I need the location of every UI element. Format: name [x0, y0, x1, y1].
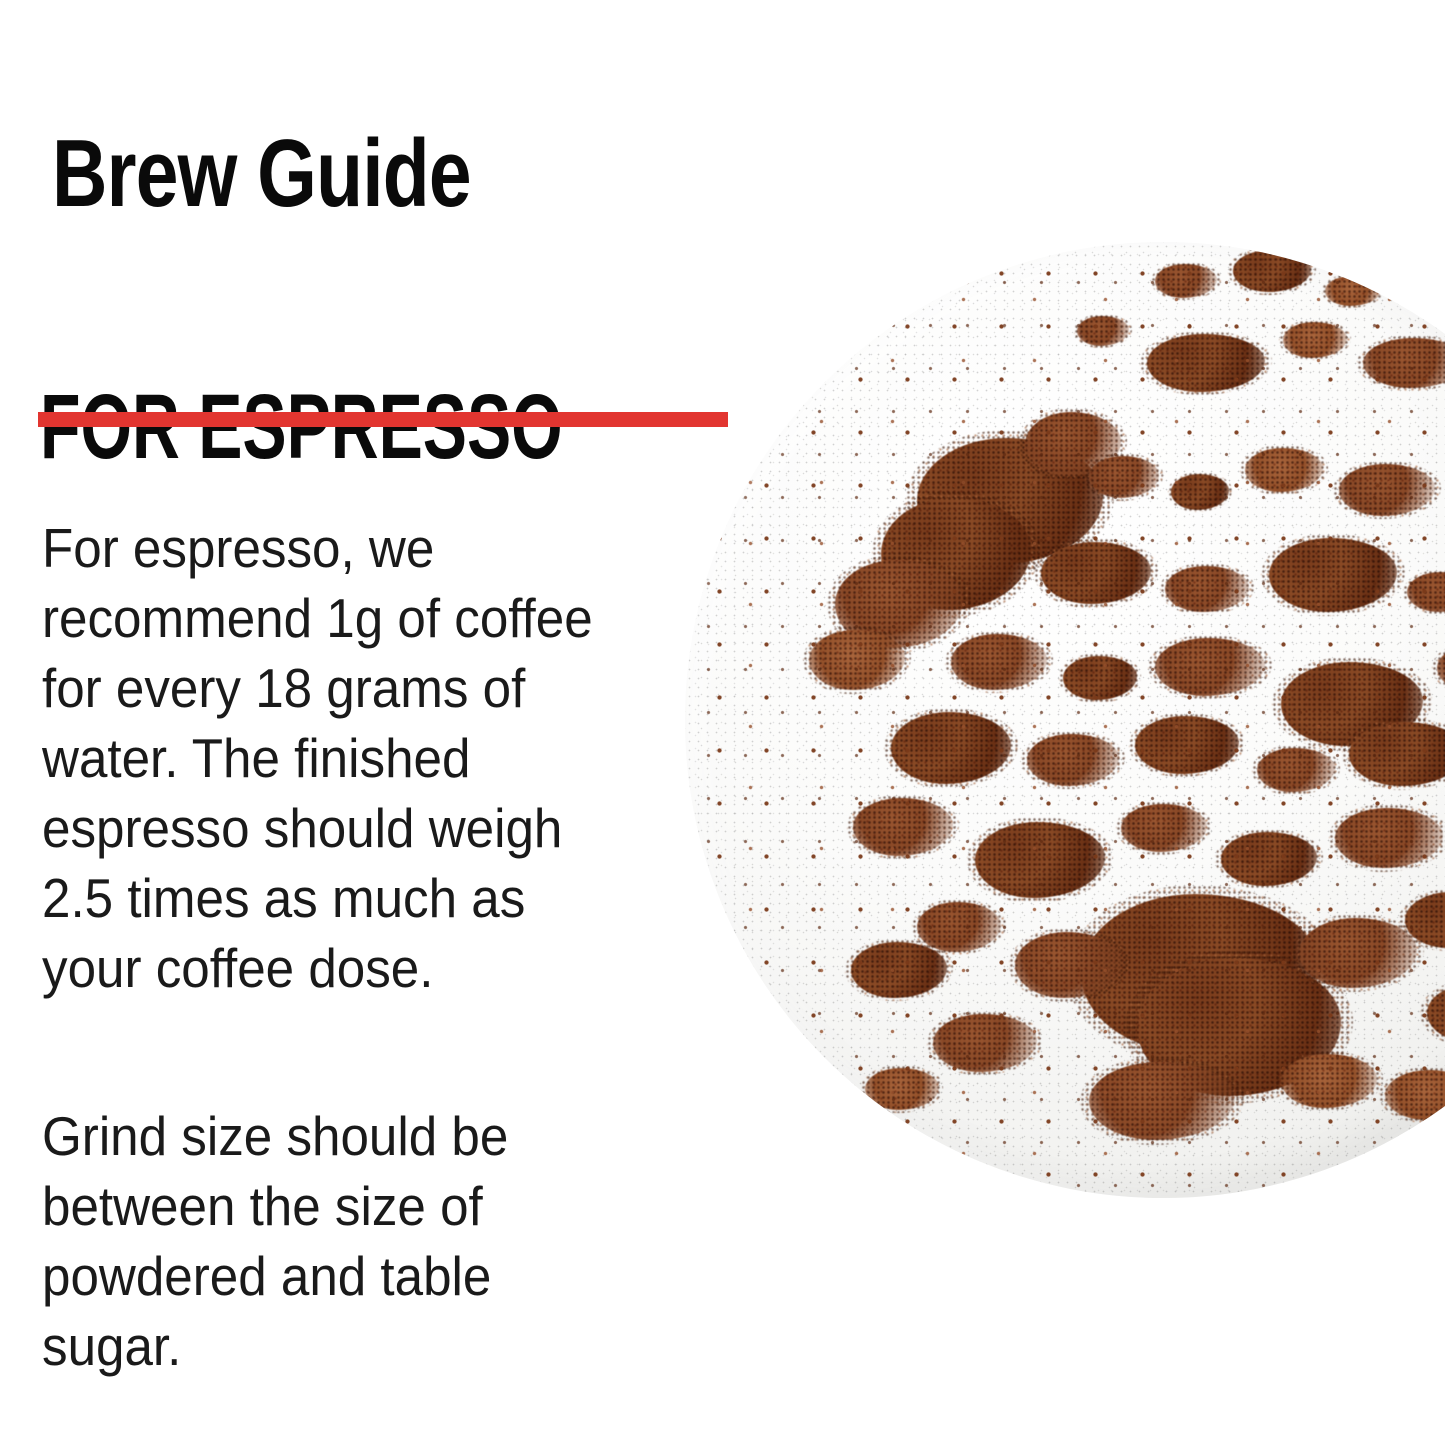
coffee-grounds-photo	[685, 0, 1445, 1445]
body-paragraph-ratio: For espresso, we recommend 1g of coffee …	[42, 513, 600, 1003]
section-heading: FOR ESPRESSO	[40, 381, 563, 473]
text-column: Brew Guide FOR ESPRESSO For espresso, we…	[0, 0, 760, 1445]
body-paragraph-grind-size: Grind size should be between the size of…	[42, 1101, 600, 1381]
brew-guide-page: Brew Guide FOR ESPRESSO For espresso, we…	[0, 0, 1445, 1445]
heading-accent-rule	[38, 412, 728, 427]
page-title: Brew Guide	[52, 126, 471, 222]
ceramic-plate	[685, 242, 1445, 1198]
